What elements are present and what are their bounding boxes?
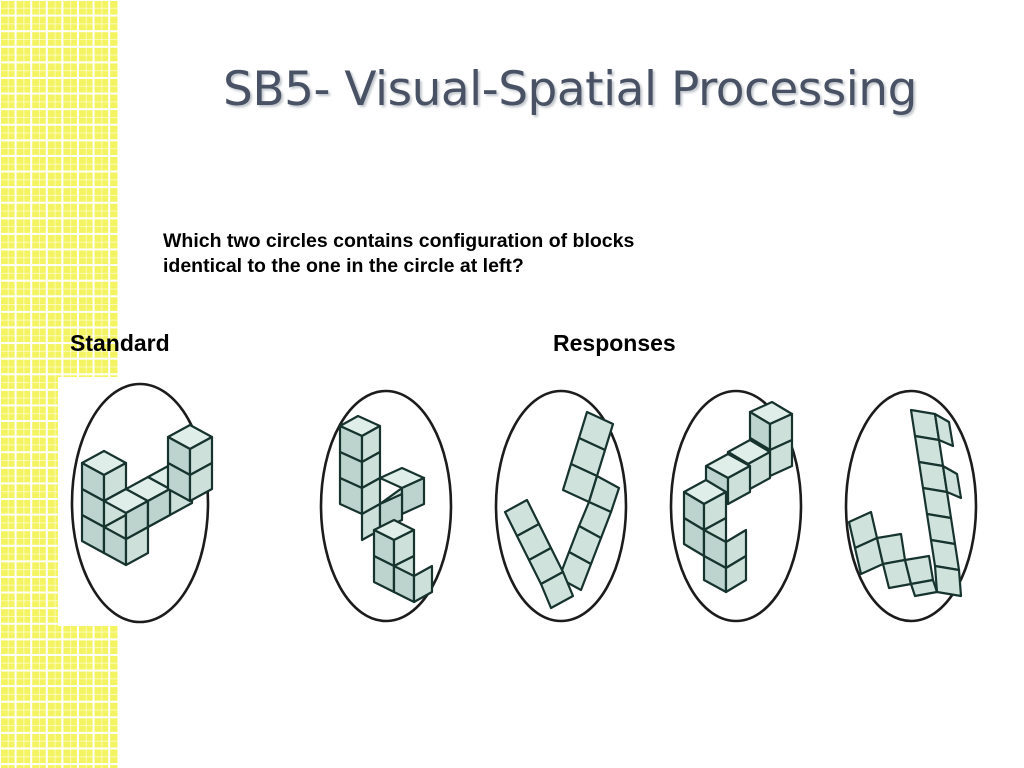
cube: [340, 452, 380, 488]
label-standard: Standard: [70, 330, 170, 357]
response-figure-3: [668, 388, 804, 624]
tile: [935, 414, 953, 446]
response-4-block-group: [849, 410, 961, 596]
tile: [579, 412, 613, 450]
tile: [883, 560, 911, 588]
prompt-line-2: identical to the one in the circle at le…: [163, 254, 883, 279]
tile: [517, 524, 551, 560]
response-4-ellipse: [846, 391, 976, 621]
cube: [750, 438, 792, 476]
response-3-block-group: [684, 402, 792, 592]
tile: [571, 438, 605, 476]
cube: [706, 454, 750, 504]
tile: [559, 552, 591, 590]
tile: [541, 572, 573, 608]
response-2-ellipse: [496, 391, 626, 621]
tile: [923, 488, 951, 518]
label-responses: Responses: [553, 330, 676, 357]
cube: [374, 556, 414, 592]
tile: [579, 502, 611, 538]
tile: [905, 556, 933, 584]
response-2-block-group: [505, 412, 619, 608]
cube: [380, 468, 424, 530]
cube: [168, 463, 212, 501]
cube: [684, 518, 726, 556]
cube: [148, 465, 192, 527]
cube: [168, 425, 212, 475]
tile: [849, 512, 877, 548]
cube: [394, 566, 432, 602]
cube: [704, 556, 746, 592]
tile: [943, 466, 961, 498]
response-1-block-group: [340, 416, 432, 602]
tile: [505, 500, 539, 536]
tile: [855, 538, 883, 574]
tile: [569, 526, 601, 564]
tile: [911, 580, 937, 596]
cube: [704, 530, 746, 568]
cube: [340, 416, 380, 462]
response-figure-4: [843, 388, 979, 624]
tile: [919, 462, 947, 492]
tile: [911, 410, 939, 440]
response-figure-2: [493, 388, 629, 624]
response-1-ellipse: [321, 391, 451, 621]
tile: [927, 514, 955, 544]
cube: [340, 478, 380, 514]
tile: [529, 548, 563, 584]
prompt-line-1: Which two circles contains configuration…: [163, 229, 883, 254]
tile: [931, 540, 959, 570]
tile: [877, 534, 905, 564]
tile: [935, 566, 961, 596]
response-3-ellipse: [671, 391, 801, 621]
cube: [374, 520, 414, 566]
tile: [563, 464, 597, 502]
cube: [728, 440, 770, 490]
cube: [684, 480, 726, 530]
page-title: SB5- Visual-Spatial Processing: [130, 62, 1010, 117]
tile: [915, 436, 943, 466]
response-figure-1: [318, 388, 454, 624]
cube: [750, 402, 792, 450]
standard-figure-backdrop: [58, 377, 142, 626]
prompt-question: Which two circles contains configuration…: [163, 229, 883, 279]
cube: [362, 494, 402, 540]
tile: [589, 476, 619, 512]
